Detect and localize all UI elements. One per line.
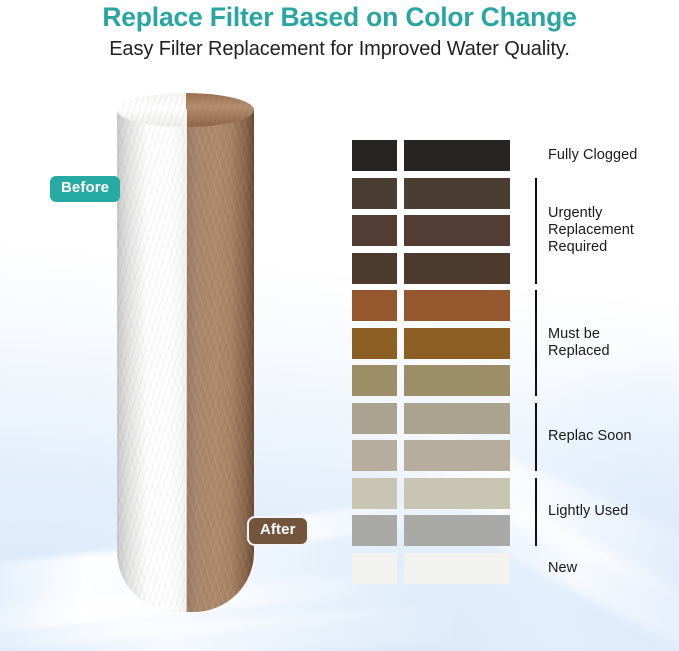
swatch-row	[352, 290, 679, 321]
condition-label: New	[548, 560, 577, 577]
color-change-scale: Fully CloggedUrgently Replacement Requir…	[352, 140, 679, 590]
swatch-small	[352, 365, 397, 396]
condition-label: Urgently Replacement Required	[548, 205, 634, 256]
swatch-wide	[404, 178, 510, 209]
swatch-small	[352, 328, 397, 359]
swatch-wide	[404, 440, 510, 471]
cartridge-split-seam	[185, 109, 187, 612]
swatch-small	[352, 178, 397, 209]
swatch-wide	[404, 515, 510, 546]
badge-after: After	[247, 516, 309, 546]
swatch-small	[352, 253, 397, 284]
filter-cartridge-image	[117, 93, 254, 627]
badge-before: Before	[50, 176, 120, 202]
swatch-wide	[404, 478, 510, 509]
swatch-row	[352, 178, 679, 209]
swatch-small	[352, 515, 397, 546]
swatch-wide	[404, 140, 510, 171]
condition-label: Fully Clogged	[548, 147, 637, 164]
swatch-small	[352, 140, 397, 171]
condition-label: Replac Soon	[548, 428, 632, 445]
page-title: Replace Filter Based on Color Change	[0, 2, 679, 32]
swatch-small	[352, 403, 397, 434]
swatch-row	[352, 365, 679, 396]
swatch-small	[352, 478, 397, 509]
swatch-row	[352, 553, 679, 584]
swatch-wide	[404, 365, 510, 396]
swatch-small	[352, 215, 397, 246]
swatch-wide	[404, 215, 510, 246]
infographic-canvas: Replace Filter Based on Color Change Eas…	[0, 0, 679, 651]
swatch-wide	[404, 328, 510, 359]
swatch-small	[352, 553, 397, 584]
swatch-small	[352, 440, 397, 471]
swatch-wide	[404, 253, 510, 284]
group-bracket	[535, 403, 537, 472]
page-subtitle: Easy Filter Replacement for Improved Wat…	[0, 36, 679, 62]
swatch-wide	[404, 290, 510, 321]
group-bracket	[535, 178, 537, 284]
swatch-wide	[404, 403, 510, 434]
swatch-row	[352, 478, 679, 509]
condition-label: Must be Replaced	[548, 326, 610, 360]
swatch-wide	[404, 553, 510, 584]
group-bracket	[535, 290, 537, 396]
group-bracket	[535, 478, 537, 547]
swatch-row	[352, 515, 679, 546]
swatch-row	[352, 253, 679, 284]
header: Replace Filter Based on Color Change Eas…	[0, 0, 679, 62]
swatch-small	[352, 290, 397, 321]
swatch-row	[352, 328, 679, 359]
condition-label: Lightly Used	[548, 503, 628, 520]
